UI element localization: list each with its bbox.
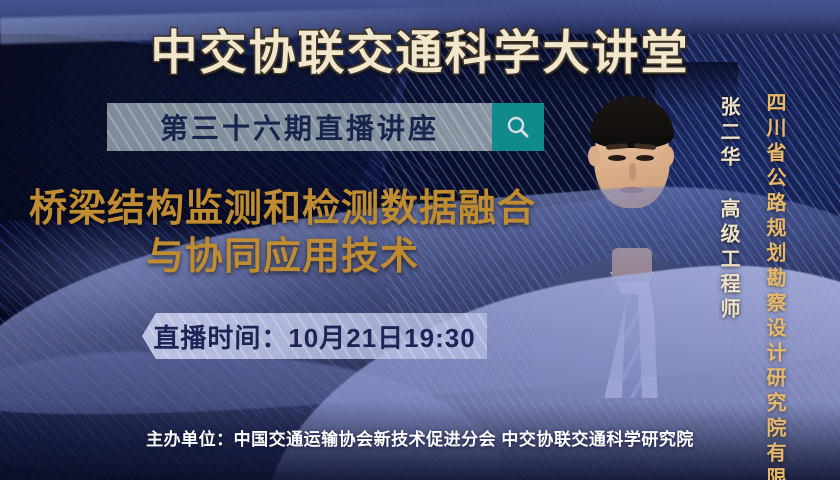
organizer-line: 主办单位：中国交通运输协会新技术促进分会 中交协联交通科学研究院	[0, 425, 840, 450]
subtitle-label: 第三十六期直播讲座	[160, 107, 439, 147]
lecture-headline: 桥梁结构监测和检测数据融合 与协同应用技术	[0, 186, 565, 281]
search-icon	[505, 114, 531, 140]
speaker-name-title: 张二华 高级工程师	[714, 96, 743, 323]
portrait-eye-left	[608, 155, 626, 161]
headline-line-1: 桥梁结构监测和检测数据融合	[29, 188, 536, 230]
page-title: 中交协联交通科学大讲堂	[0, 14, 840, 83]
subtitle-bar: 第三十六期直播讲座	[107, 103, 544, 151]
subtitle-label-box: 第三十六期直播讲座	[107, 103, 492, 151]
broadcast-time-text: 直播时间：10月21日19:30	[153, 318, 475, 355]
portrait-nose	[629, 163, 636, 180]
webinar-poster: 中交协联交通科学大讲堂 第三十六期直播讲座 桥梁结构监测和检测数据融合 与协同应…	[0, 0, 840, 480]
headline-line-2: 与协同应用技术	[0, 234, 565, 282]
portrait-eye-right	[636, 155, 654, 161]
portrait-ear-left	[588, 146, 600, 166]
portrait-ear-right	[662, 146, 674, 166]
speaker-organization: 四川省公路规划勘察设计研究院有限公司	[760, 92, 789, 480]
broadcast-time-badge: 直播时间：10月21日19:30	[142, 313, 487, 359]
search-button[interactable]	[492, 103, 544, 151]
